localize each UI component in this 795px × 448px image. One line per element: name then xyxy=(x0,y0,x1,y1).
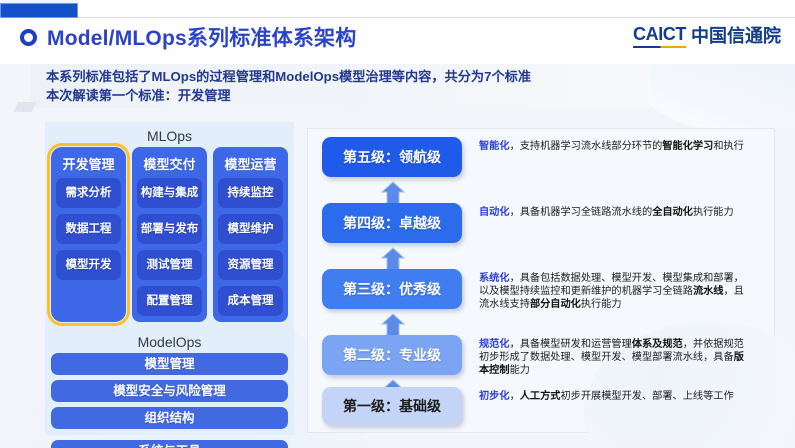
maturity-levels: 第五级：领航级 智能化，支持机器学习流水线部分环节的智能化学习和执行 第四级：卓… xyxy=(308,129,774,432)
level-desc-4: 自动化，具备机器学习全链路流水线的全自动化执行能力 xyxy=(479,203,747,219)
mlops-cell-deploy-release[interactable]: 部署与发布 xyxy=(137,214,202,244)
slide-title-row: Model/MLOps系列标准体系架构 xyxy=(20,22,356,52)
page-title: Model/MLOps系列标准体系架构 xyxy=(47,22,356,52)
arrow-up-icon-3 xyxy=(380,313,406,337)
maturity-panel: 第五级：领航级 智能化，支持机器学习流水线部分环节的智能化学习和执行 第四级：卓… xyxy=(307,128,775,433)
logo-name: 中国信通院 xyxy=(691,22,781,48)
mlops-cell-resource-management[interactable]: 资源管理 xyxy=(218,250,283,280)
mlops-cell-requirements[interactable]: 需求分析 xyxy=(56,178,121,208)
slide-canvas: Model/MLOps系列标准体系架构 CAICT 中国信通院 本系列标准包括了… xyxy=(0,0,795,448)
modelops-title: ModelOps xyxy=(51,332,288,353)
mlops-cell-test-management[interactable]: 测试管理 xyxy=(137,250,202,280)
mlops-column-development[interactable]: 开发管理 需求分析 数据工程 模型开发 xyxy=(51,147,126,322)
level-box-1[interactable]: 第一级：基础级 xyxy=(322,387,462,425)
subtitle-text: 本系列标准包括了MLOps的过程管理和ModelOps模型治理等内容，共分为7个… xyxy=(46,68,531,105)
logo-mark: CAICT xyxy=(633,24,686,48)
subtitle-line-1: 本系列标准包括了MLOps的过程管理和ModelOps模型治理等内容，共分为7个… xyxy=(46,68,531,87)
mlops-column-delivery[interactable]: 模型交付 构建与集成 部署与发布 测试管理 配置管理 xyxy=(132,147,207,322)
mlops-title: MLOps xyxy=(51,126,288,147)
architecture-panel: MLOps 开发管理 需求分析 数据工程 模型开发 模型交付 构建与集成 部署与… xyxy=(45,122,294,448)
modelops-bar-security-risk[interactable]: 模型安全与风险管理 xyxy=(51,380,288,402)
top-white-strip xyxy=(78,0,795,18)
modelops-panel: ModelOps 模型管理 模型安全与风险管理 组织结构 xyxy=(45,329,294,435)
level-box-2[interactable]: 第二级：专业级 xyxy=(322,335,462,375)
ring-bullet-icon xyxy=(20,29,37,46)
modelops-bar-model-management[interactable]: 模型管理 xyxy=(51,353,288,375)
level-box-4[interactable]: 第四级：卓越级 xyxy=(322,203,462,243)
level-box-3[interactable]: 第三级：优秀级 xyxy=(322,269,462,309)
caict-logo: CAICT 中国信通院 xyxy=(633,22,781,48)
level-desc-2: 规范化，具备模型研发和运营管理体系及规范，并依据规范初步形成了数据处理、模型开发… xyxy=(479,335,747,377)
arrow-up-icon-4 xyxy=(380,247,406,271)
mlops-panel: MLOps 开发管理 需求分析 数据工程 模型开发 模型交付 构建与集成 部署与… xyxy=(45,122,294,329)
level-box-5[interactable]: 第五级：领航级 xyxy=(322,137,462,177)
column-header: 模型交付 xyxy=(137,152,202,178)
tools-row: 系统与工具 xyxy=(45,435,294,448)
mlops-cell-build-integration[interactable]: 构建与集成 xyxy=(137,178,202,208)
maturity-row-level-5: 第五级：领航级 智能化，支持机器学习流水线部分环节的智能化学习和执行 xyxy=(308,137,774,177)
column-header: 开发管理 xyxy=(56,152,121,178)
mlops-columns: 开发管理 需求分析 数据工程 模型开发 模型交付 构建与集成 部署与发布 测试管… xyxy=(51,147,288,322)
level-desc-5: 智能化，支持机器学习流水线部分环节的智能化学习和执行 xyxy=(479,137,747,153)
mlops-cell-model-development[interactable]: 模型开发 xyxy=(56,250,121,280)
systems-and-tools-bar[interactable]: 系统与工具 xyxy=(51,440,288,448)
mlops-cell-config-management[interactable]: 配置管理 xyxy=(137,286,202,316)
maturity-row-level-2: 第二级：专业级 规范化，具备模型研发和运营管理体系及规范，并依据规范初步形成了数… xyxy=(308,335,774,377)
subtitle-line-2: 本次解读第一个标准：开发管理 xyxy=(46,87,531,106)
band-tail xyxy=(14,102,37,112)
mlops-column-operations[interactable]: 模型运营 持续监控 模型维护 资源管理 成本管理 xyxy=(213,147,288,322)
maturity-row-level-4: 第四级：卓越级 自动化，具备机器学习全链路流水线的全自动化执行能力 xyxy=(308,203,774,243)
mlops-cell-data-engineering[interactable]: 数据工程 xyxy=(56,214,121,244)
subtitle-band: 本系列标准包括了MLOps的过程管理和ModelOps模型治理等内容，共分为7个… xyxy=(30,64,650,108)
column-header: 模型运营 xyxy=(218,152,283,178)
mlops-cell-cost-management[interactable]: 成本管理 xyxy=(218,286,283,316)
mlops-cell-model-maintenance[interactable]: 模型维护 xyxy=(218,214,283,244)
maturity-row-level-3: 第三级：优秀级 系统化，具备包括数据处理、模型开发、模型集成和部署，以及模型持续… xyxy=(308,269,774,311)
accent-bar xyxy=(0,3,78,18)
arrow-up-icon-5 xyxy=(380,181,406,205)
mlops-cell-continuous-monitoring[interactable]: 持续监控 xyxy=(218,178,283,208)
modelops-bar-org-structure[interactable]: 组织结构 xyxy=(51,407,288,429)
maturity-row-level-1: 第一级：基础级 初步化，人工方式初步开展模型开发、部署、上线等工作 xyxy=(308,387,774,425)
level-desc-1: 初步化，人工方式初步开展模型开发、部署、上线等工作 xyxy=(479,387,747,403)
level-desc-3: 系统化，具备包括数据处理、模型开发、模型集成和部署，以及模型持续监控和更新维护的… xyxy=(479,269,747,311)
